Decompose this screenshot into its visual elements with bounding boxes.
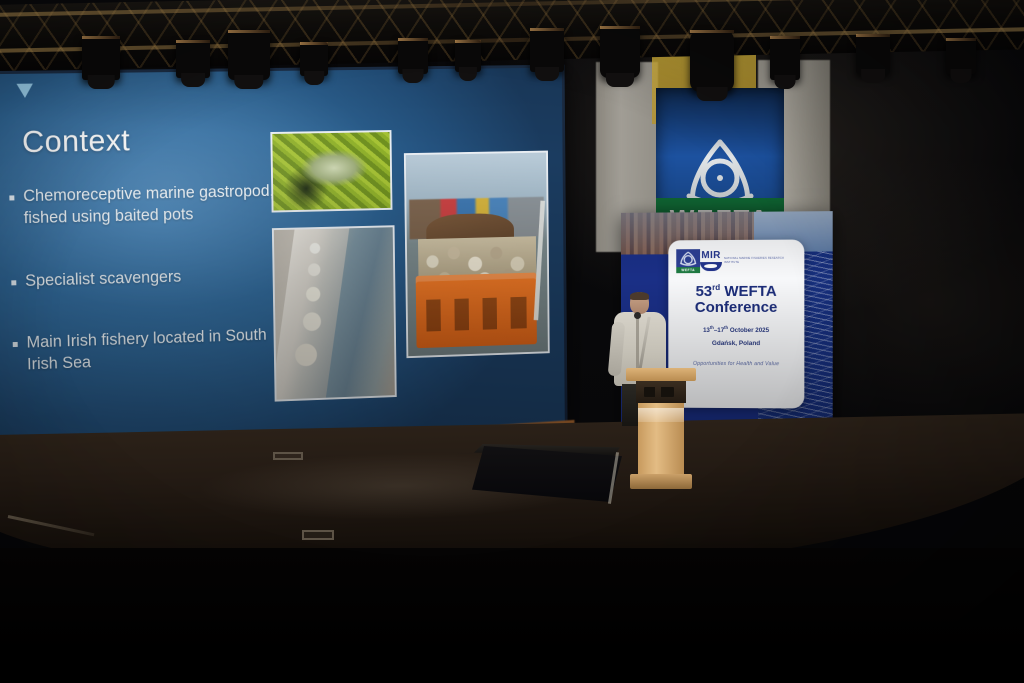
- wooden-lectern: [630, 368, 692, 490]
- mir-logo: MIR NATIONAL MARINE FISHERIES RESEARCH I…: [700, 251, 796, 271]
- wefta-triquetra-icon: [676, 249, 700, 267]
- microphone-capsule-icon: [634, 312, 641, 319]
- mir-logo-mark: MIR: [700, 251, 722, 271]
- banner-dates: 13th–17th October 2025: [703, 325, 769, 334]
- moving-head-light: [690, 30, 734, 92]
- slide-bullet-list: Chemoreceptive marine gastropod, fished …: [9, 181, 287, 417]
- banner-org-name: WEFTA: [720, 283, 776, 300]
- mir-wave-icon: [700, 262, 722, 271]
- square-bullet-icon: [13, 342, 18, 347]
- banner-date-start: 13: [703, 327, 710, 334]
- baited-pots-on-quay-photo: [272, 225, 397, 401]
- bullet-text: Chemoreceptive marine gastropod, fished …: [23, 181, 284, 230]
- conference-stage-scene: WEFTA: [0, 0, 1024, 683]
- presentation-slide: ⯆ Context Chemoreceptive marine gastropo…: [0, 68, 565, 450]
- square-bullet-icon: [11, 280, 16, 285]
- lectern-control-panel: [636, 381, 686, 403]
- presenter-hair: [630, 292, 649, 300]
- stage-light-fixture: [856, 34, 890, 74]
- list-item: Chemoreceptive marine gastropod, fished …: [9, 181, 284, 230]
- banner-location: Gdańsk, Poland: [712, 340, 760, 347]
- stage-light-fixture: [946, 38, 976, 74]
- screen-frame: ⯆ Context Chemoreceptive marine gastropo…: [0, 65, 568, 453]
- bullet-text: Main Irish fishery located in South Iris…: [26, 325, 286, 376]
- floor-pocket-plate: [273, 452, 303, 460]
- projection-screen: ⯆ Context Chemoreceptive marine gastropo…: [0, 65, 568, 453]
- slide-title: Context: [22, 122, 131, 160]
- wefta-logo-text: WEFTA: [681, 268, 695, 272]
- stage-light-fixture: [455, 40, 481, 72]
- lectern-top-surface: [626, 368, 696, 381]
- banner-tagline: Opportunities for Health and Value: [693, 361, 779, 367]
- stage-light-fixture: [176, 40, 210, 78]
- banner-title-line1: 53rd WEFTA: [696, 284, 777, 300]
- list-item: Specialist scavengers: [11, 264, 285, 293]
- banner-edition-number: 53: [696, 283, 713, 300]
- whelk-on-seaweed-photo: [270, 130, 392, 212]
- wefta-logo-mark: [676, 249, 700, 267]
- banner-date-end: –17: [714, 327, 724, 334]
- stage-light-fixture: [82, 36, 120, 80]
- mir-logo-text: MIR: [701, 251, 720, 261]
- mir-logo-subtitle: NATIONAL MARINE FISHERIES RESEARCH INSTI…: [724, 257, 796, 265]
- whelk-catch-crate-photo: [404, 151, 550, 359]
- banner-title-line2: Conference: [695, 300, 778, 316]
- square-bullet-icon: [9, 195, 14, 200]
- stage-light-fixture: [770, 36, 800, 80]
- lectern-light-stripe: [638, 408, 684, 422]
- stage-light-fixture: [530, 28, 564, 72]
- stage-light-fixture: [300, 42, 328, 76]
- v-mark-logo-icon: ⯆: [13, 78, 47, 109]
- moving-head-light: [228, 30, 270, 80]
- wefta-logo: WEFTA: [676, 249, 700, 273]
- baited-pots-image: [274, 227, 395, 399]
- banner-edition-ordinal: rd: [712, 283, 720, 292]
- wefta-logo-bar: WEFTA: [676, 267, 700, 273]
- stage-front-apron: [0, 548, 1024, 683]
- floor-pocket-plate: [302, 530, 334, 540]
- orange-crate: [416, 272, 537, 348]
- bullet-text: Specialist scavengers: [25, 266, 181, 292]
- stage-light-fixture: [398, 38, 428, 74]
- whelk-on-seaweed-image: [272, 132, 390, 210]
- banner-date-month-year: October 2025: [728, 327, 769, 334]
- moving-head-light: [600, 26, 640, 78]
- lectern-base: [630, 474, 692, 489]
- banner-logo-row: WEFTA MIR NATIONAL MARINE FISHERIES RESE…: [676, 249, 796, 274]
- whelk-catch-crate-image: [406, 153, 548, 357]
- list-item: Main Irish fishery located in South Iris…: [13, 325, 287, 377]
